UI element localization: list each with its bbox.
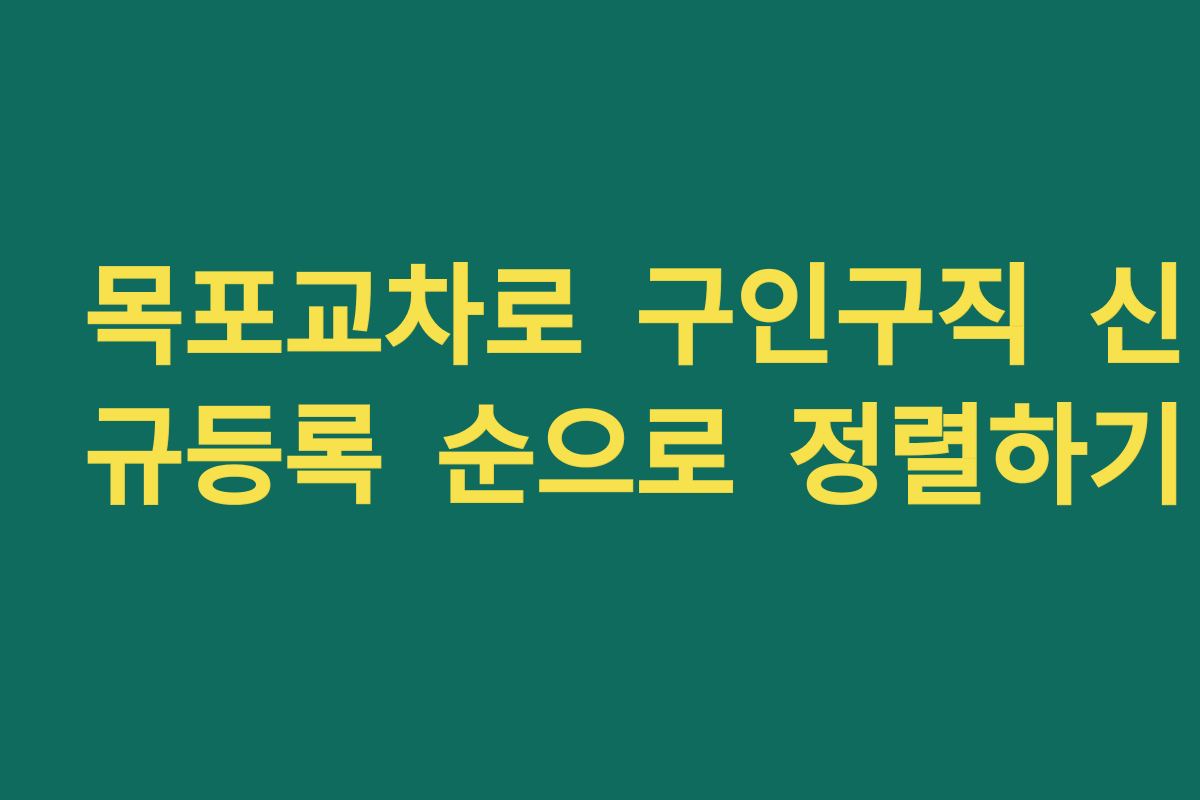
headline-line-2: 규등록 순으로 정렬하기	[85, 388, 1115, 528]
headline-line-1: 목포교차로 구인구직 신	[85, 248, 1115, 388]
banner-canvas: 목포교차로 구인구직 신 규등록 순으로 정렬하기	[0, 0, 1200, 800]
headline-text: 목포교차로 구인구직 신 규등록 순으로 정렬하기	[85, 248, 1115, 529]
